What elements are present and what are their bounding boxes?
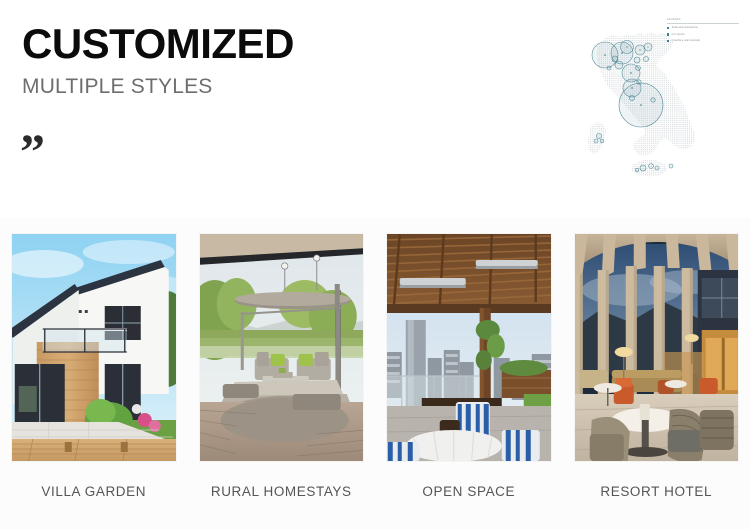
style-card-open-space[interactable]: OPEN SPACE [375, 218, 563, 529]
map-legend-item-label: Totale amministrazione [671, 26, 698, 30]
style-card-rural-homestays[interactable]: RURAL HOMESTAYS [188, 218, 376, 529]
hero-section: CUSTOMIZED MULTIPLE STYLES ” [0, 0, 750, 218]
card-caption: VILLA GARDEN [41, 483, 146, 501]
map-legend-item-label: Con risorse [671, 33, 684, 37]
map-legend-item-label: Quantita e stati nazionali [671, 39, 699, 43]
map-legend-item: Totale amministrazione [667, 26, 739, 30]
hero-copy-block: CUSTOMIZED MULTIPLE STYLES [22, 20, 442, 100]
card-caption: RESORT HOTEL [600, 483, 712, 501]
italy-dot-map: LEGENDA Totale amministrazione Con risor… [575, 8, 745, 193]
style-card-resort-hotel[interactable]: RESORT HOTEL [563, 218, 750, 529]
style-card-villa-garden[interactable]: VILLA GARDEN [0, 218, 188, 529]
promo-banner-page: CUSTOMIZED MULTIPLE STYLES ” [0, 0, 750, 529]
style-card-grid: VILLA GARDEN [0, 218, 750, 529]
legend-swatch-icon [667, 40, 669, 42]
map-legend: LEGENDA Totale amministrazione Con risor… [667, 17, 739, 46]
quotation-mark-icon: ” [20, 126, 46, 176]
resort-hotel-photo [575, 234, 739, 461]
map-legend-title: LEGENDA [667, 17, 739, 24]
legend-swatch-icon [667, 27, 669, 29]
villa-garden-photo [12, 234, 176, 461]
page-title: CUSTOMIZED [22, 20, 442, 68]
legend-swatch-icon [667, 33, 669, 35]
open-space-photo [387, 234, 551, 461]
rural-homestays-photo [200, 234, 364, 461]
map-legend-item: Con risorse [667, 33, 739, 37]
card-caption: RURAL HOMESTAYS [211, 483, 352, 501]
page-subtitle: MULTIPLE STYLES [22, 74, 442, 100]
card-caption: OPEN SPACE [422, 483, 515, 501]
map-legend-item: Quantita e stati nazionali [667, 39, 739, 43]
